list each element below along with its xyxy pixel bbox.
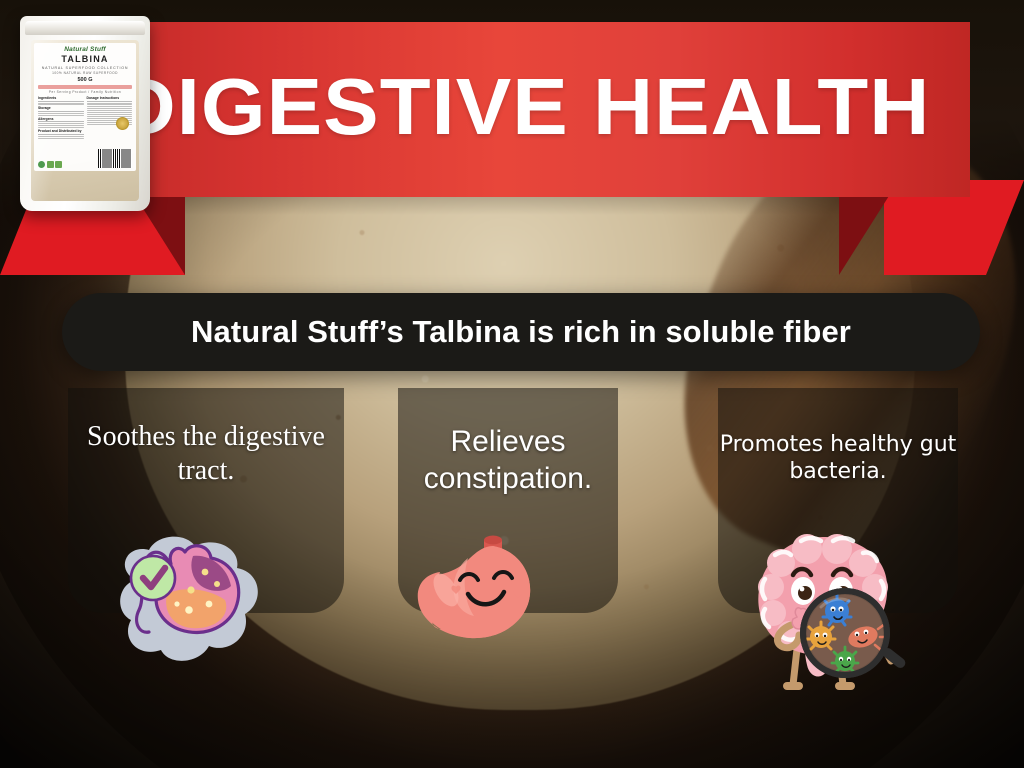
subtitle-text: Natural Stuff’s Talbina is rich in solub…	[191, 314, 851, 350]
stomach-opening	[484, 536, 502, 545]
distributor-lines	[38, 136, 84, 139]
left-foot	[783, 682, 803, 690]
label-column-left: Ingredients Storage Allergens Product an…	[38, 96, 84, 140]
vegan-badge-icon	[47, 161, 54, 168]
product-size: 500 G	[38, 77, 132, 83]
certification-badges	[38, 161, 62, 168]
label-divider-bar	[38, 85, 132, 89]
product-label: Natural Stuff TALBINA NATURAL SUPERFOOD …	[34, 43, 136, 171]
storage-heading: Storage	[38, 106, 84, 112]
stomach-check-icon	[105, 528, 290, 673]
header-ribbon: DIGESTIVE HEALTH	[0, 0, 1024, 290]
pouch-body: Natural Stuff TALBINA NATURAL SUPERFOOD …	[31, 40, 139, 201]
subtitle-banner: Natural Stuff’s Talbina is rich in solub…	[62, 293, 980, 371]
label-footer	[38, 149, 132, 168]
pouch-zipper	[25, 21, 145, 35]
product-name: TALBINA	[38, 54, 132, 64]
intestine-magnifier-icon	[735, 525, 915, 700]
quality-seal-icon	[116, 117, 129, 130]
allergens-lines	[38, 123, 84, 128]
right-foot	[835, 682, 855, 690]
check-badge	[131, 556, 175, 600]
ingredients-lines	[38, 103, 84, 106]
left-leg	[793, 649, 797, 685]
organic-badge-icon	[55, 161, 62, 168]
product-tagline-secondary: 100% NATURAL RAW SUPERFOOD	[38, 71, 132, 75]
nutrition-note: Per Serving Product / Family Nutrition	[38, 90, 132, 94]
ingredients-heading: Ingredients	[38, 96, 84, 102]
product-tagline: NATURAL SUPERFOOD COLLECTION	[38, 66, 132, 70]
page-title: DIGESTIVE HEALTH	[112, 46, 934, 168]
product-package: Natural Stuff TALBINA NATURAL SUPERFOOD …	[20, 16, 150, 211]
storage-lines	[38, 113, 84, 116]
benefit-text-3: Promotes healthy gut bacteria.	[708, 432, 968, 486]
benefit-text-1: Soothes the digestive tract.	[68, 420, 344, 488]
allergens-heading: Allergens	[38, 117, 84, 123]
brand-name: Natural Stuff	[38, 46, 132, 53]
distributor-heading: Product and Distributed by	[38, 129, 84, 135]
barcode	[98, 149, 132, 168]
benefit-text-2: Relieves constipation.	[388, 424, 628, 497]
dosage-heading: Dosage Instructions	[87, 96, 133, 102]
happy-stomach-icon	[398, 528, 573, 653]
halal-badge-icon	[38, 161, 45, 168]
